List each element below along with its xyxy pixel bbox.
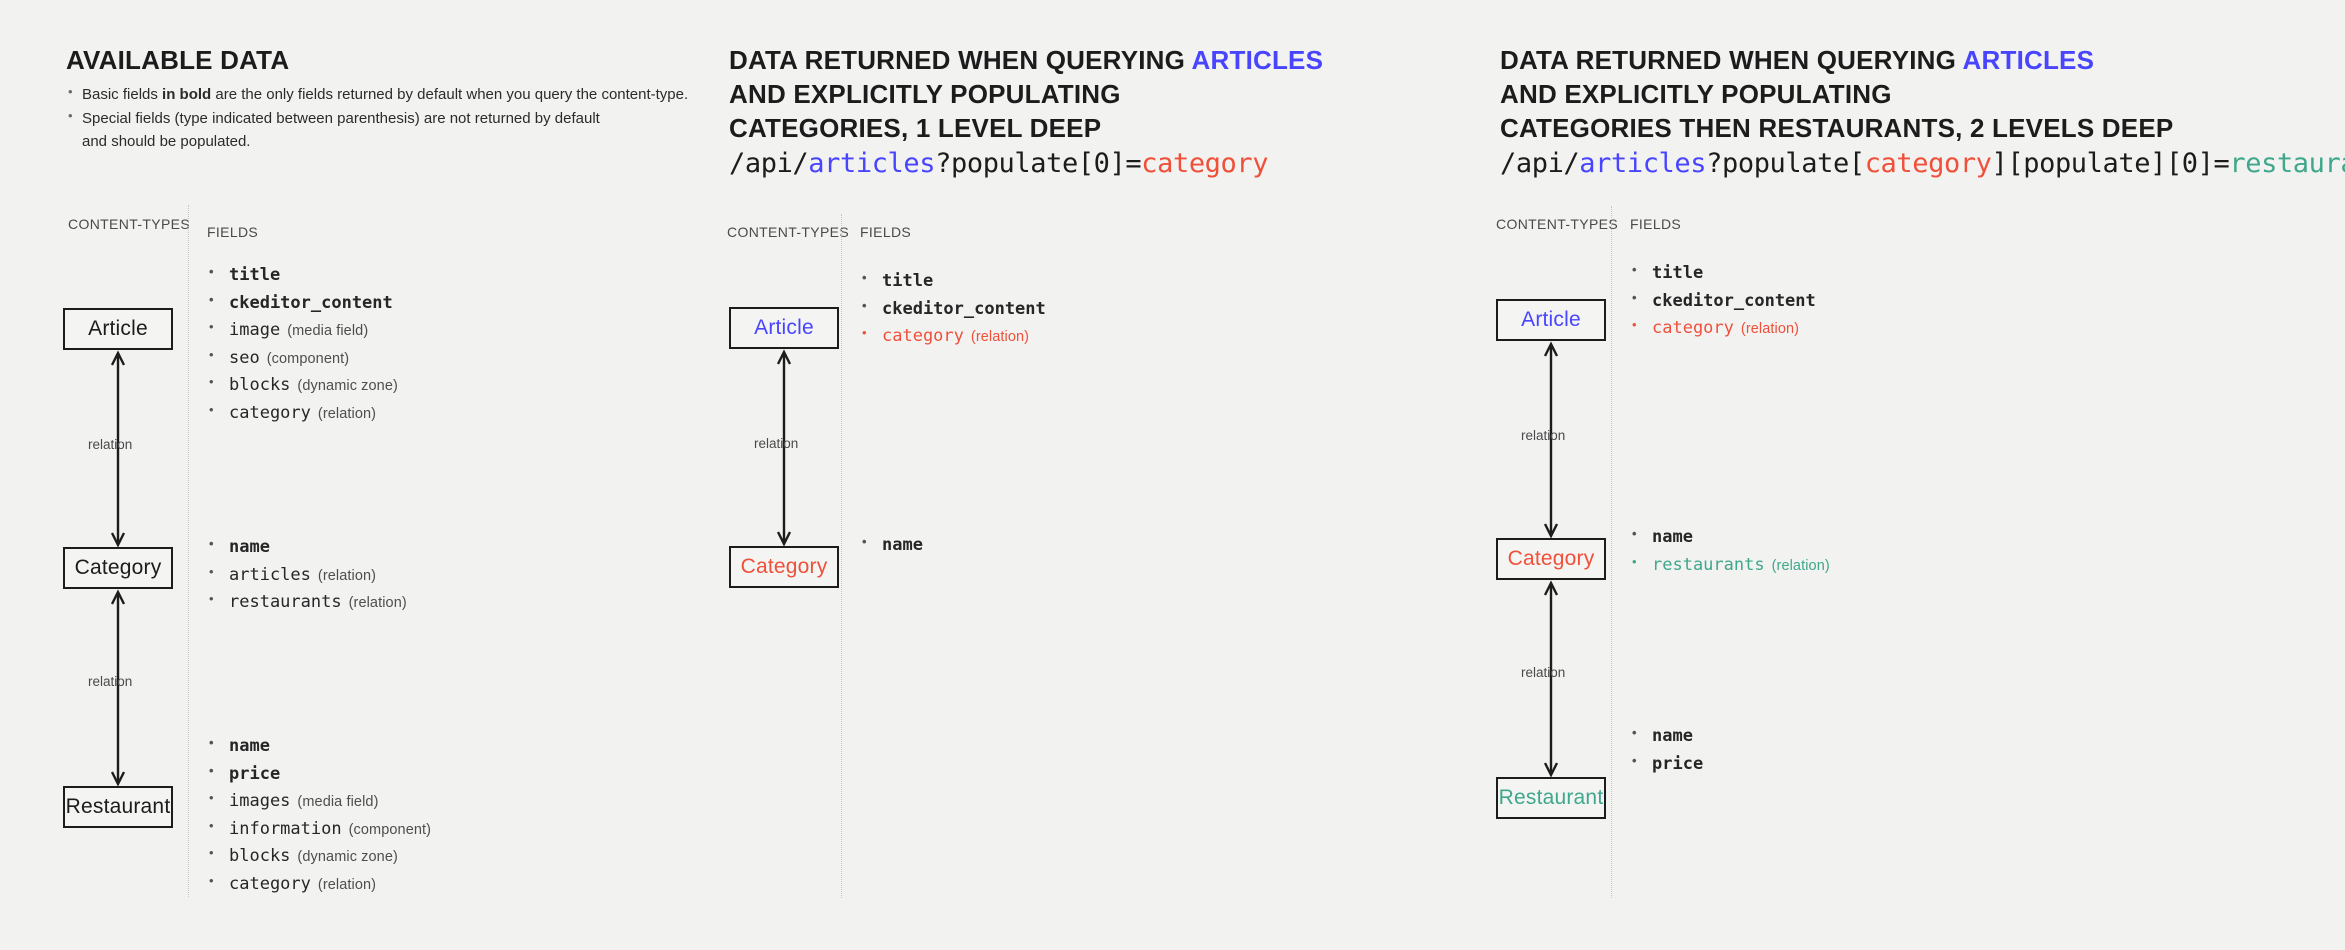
column-label-content-types: CONTENT-TYPES — [1496, 216, 1618, 232]
field-item: name — [1630, 723, 1703, 751]
relation-label: relation — [1521, 665, 1565, 680]
field-item: name — [1630, 524, 1830, 552]
api-path-1-level: /api/articles?populate[0]=category — [729, 148, 1268, 179]
content-type-box-restaurant[interactable]: Restaurant — [63, 786, 173, 828]
panel-2-title: DATA RETURNED WHEN QUERYING ARTICLES AND… — [729, 44, 1323, 145]
column-label-fields: FIELDS — [1630, 216, 1681, 232]
content-type-box-category[interactable]: Category — [1496, 538, 1606, 580]
note-item: Basic fields in bold are the only fields… — [66, 83, 766, 107]
field-item: ckeditor_content — [1630, 288, 1816, 316]
content-type-box-article[interactable]: Article — [729, 307, 839, 349]
field-item: articles(relation) — [207, 562, 407, 590]
panel-articles-2-levels: DATA RETURNED WHEN QUERYING ARTICLES AND… — [1478, 0, 2345, 950]
field-item: title — [860, 268, 1046, 296]
field-item: restaurants(relation) — [207, 589, 407, 617]
field-item: images(media field) — [207, 788, 431, 816]
content-type-label: Category — [1508, 547, 1595, 571]
field-list-category: name restaurants(relation) — [1630, 524, 1830, 579]
field-item: title — [1630, 260, 1816, 288]
api-token-category: category — [1141, 148, 1268, 179]
field-item: name — [207, 534, 407, 562]
panel-3-divider — [1611, 206, 1613, 898]
field-item: image(media field) — [207, 317, 398, 345]
api-token-restaurants: restaurants — [2229, 148, 2345, 179]
keyword-articles: ARTICLES — [1192, 45, 1324, 75]
field-item: category(relation) — [207, 871, 431, 899]
field-list-article: title ckeditor_content image(media field… — [207, 262, 398, 427]
api-token-populate-nested: ][populate][0]= — [1992, 148, 2230, 179]
field-list-category: name articles(relation) restaurants(rela… — [207, 534, 407, 617]
relation-label: relation — [88, 674, 132, 689]
panel-1-title: AVAILABLE DATA — [66, 44, 289, 78]
panel-1-notes: Basic fields in bold are the only fields… — [66, 83, 766, 154]
field-item: ckeditor_content — [207, 290, 398, 318]
field-list-restaurant: name price images(media field) informati… — [207, 733, 431, 898]
field-list-restaurant: name price — [1630, 723, 1703, 778]
column-label-content-types: CONTENT-TYPES — [68, 216, 190, 232]
field-item: title — [207, 262, 398, 290]
field-item: seo(component) — [207, 345, 398, 373]
content-type-box-article[interactable]: Article — [1496, 299, 1606, 341]
field-item: name — [207, 733, 431, 761]
panel-2-title-line1: DATA RETURNED WHEN QUERYING ARTICLES — [729, 44, 1323, 78]
panel-2-divider — [841, 214, 843, 898]
content-type-label: Article — [754, 316, 814, 340]
field-item: price — [207, 761, 431, 789]
field-list-article: title ckeditor_content category(relation… — [860, 268, 1046, 351]
content-type-label: Category — [75, 556, 162, 580]
note-item: Special fields (type indicated between p… — [66, 107, 766, 131]
field-item: blocks(dynamic zone) — [207, 843, 431, 871]
field-item: restaurants(relation) — [1630, 552, 1830, 580]
panel-1-divider — [188, 205, 190, 897]
field-list-category: name — [860, 532, 923, 560]
panel-2-title-line3: CATEGORIES, 1 LEVEL DEEP — [729, 112, 1323, 146]
field-item: category(relation) — [207, 400, 398, 428]
field-item: ckeditor_content — [860, 296, 1046, 324]
panel-3-title-line1: DATA RETURNED WHEN QUERYING ARTICLES — [1500, 44, 2173, 78]
content-type-box-restaurant[interactable]: Restaurant — [1496, 777, 1606, 819]
relation-label: relation — [1521, 428, 1565, 443]
api-token-populate: ?populate[0]= — [935, 148, 1141, 179]
api-token-category: category — [1865, 148, 1992, 179]
api-path-2-levels: /api/articles?populate[category][populat… — [1500, 148, 2345, 179]
content-type-label: Article — [88, 317, 148, 341]
relation-label: relation — [88, 437, 132, 452]
api-token-articles: articles — [1579, 148, 1706, 179]
content-type-box-category[interactable]: Category — [729, 546, 839, 588]
field-item: price — [1630, 751, 1703, 779]
panel-3-title-line2: AND EXPLICITLY POPULATING — [1500, 78, 2173, 112]
field-item: information(component) — [207, 816, 431, 844]
column-label-fields: FIELDS — [207, 224, 258, 240]
relation-label: relation — [754, 436, 798, 451]
api-token-prefix: /api/ — [1500, 148, 1579, 179]
panel-articles-1-level: DATA RETURNED WHEN QUERYING ARTICLES AND… — [712, 0, 1482, 950]
content-type-box-article[interactable]: Article — [63, 308, 173, 350]
field-item: category(relation) — [860, 323, 1046, 351]
content-type-box-category[interactable]: Category — [63, 547, 173, 589]
field-list-article: title ckeditor_content category(relation… — [1630, 260, 1816, 343]
field-item: blocks(dynamic zone) — [207, 372, 398, 400]
keyword-articles: ARTICLES — [1963, 45, 2095, 75]
diagram-canvas: AVAILABLE DATA Basic fields in bold are … — [0, 0, 2345, 950]
panel-3-title: DATA RETURNED WHEN QUERYING ARTICLES AND… — [1500, 44, 2173, 145]
content-type-label: Restaurant — [1499, 786, 1604, 810]
field-item: name — [860, 532, 923, 560]
note-item-continuation: and should be populated. — [66, 130, 766, 154]
content-type-label: Article — [1521, 308, 1581, 332]
content-type-label: Category — [741, 555, 828, 579]
api-token-articles: articles — [808, 148, 935, 179]
panel-2-title-line2: AND EXPLICITLY POPULATING — [729, 78, 1323, 112]
api-token-populate-open: ?populate[ — [1706, 148, 1865, 179]
column-label-fields: FIELDS — [860, 224, 911, 240]
panel-3-title-line3: CATEGORIES THEN RESTAURANTS, 2 LEVELS DE… — [1500, 112, 2173, 146]
api-token-prefix: /api/ — [729, 148, 808, 179]
field-item: category(relation) — [1630, 315, 1816, 343]
column-label-content-types: CONTENT-TYPES — [727, 224, 849, 240]
content-type-label: Restaurant — [66, 795, 171, 819]
